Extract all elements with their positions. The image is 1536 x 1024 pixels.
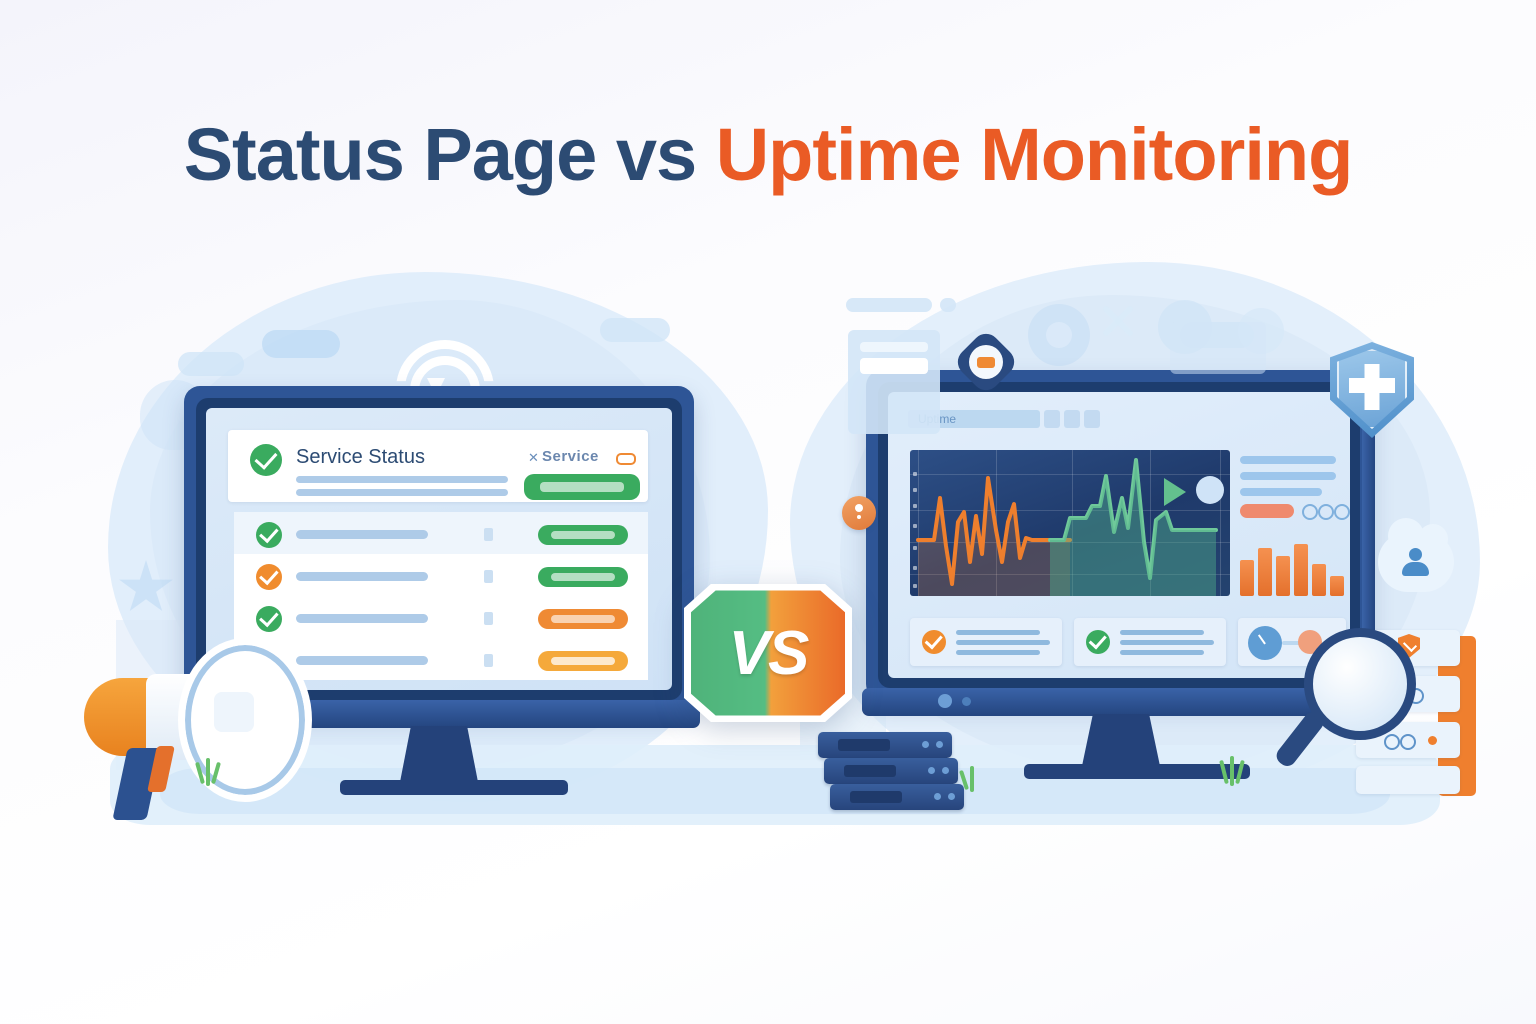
mini-bar [1330, 576, 1344, 596]
server-indicator [948, 793, 955, 800]
row-status-badge[interactable] [538, 651, 628, 671]
mini-bar [1294, 544, 1308, 596]
user-head [1409, 548, 1422, 561]
row-skeleton-line [296, 530, 428, 539]
server-unit [824, 758, 958, 784]
card-check-icon [1086, 630, 1110, 654]
server-unit [830, 784, 964, 810]
row-status-badge[interactable] [538, 567, 628, 587]
grass-decoration [1230, 756, 1234, 786]
title-part-orange: Uptime Monitoring [716, 113, 1353, 196]
play-triangle-icon[interactable] [1164, 478, 1186, 506]
row-status-badge[interactable] [538, 525, 628, 545]
row-uptime-value [484, 570, 493, 583]
server-indicator [942, 767, 949, 774]
gear-badge-center [977, 357, 995, 368]
badge-label [540, 482, 624, 492]
row-skeleton-line [296, 572, 428, 581]
document-line [860, 342, 928, 352]
overall-status-badge[interactable] [524, 474, 640, 500]
row-skeleton-line [296, 614, 428, 623]
document-card [1170, 322, 1266, 374]
megaphone-inner [214, 692, 254, 732]
vs-badge-label: VS [684, 578, 852, 728]
grass-decoration [970, 766, 974, 792]
server-slot [838, 739, 890, 751]
mini-bar [1276, 556, 1290, 596]
monitor-power-button[interactable] [938, 694, 952, 708]
status-indicator-dot [1196, 476, 1224, 504]
server-rack-panel [1356, 766, 1460, 794]
header-skeleton-line [296, 476, 508, 483]
badge-label [551, 531, 616, 539]
card-skeleton-line [956, 650, 1040, 655]
magnifier-lens [1304, 628, 1416, 740]
server-indicator [922, 741, 929, 748]
row-check-icon [256, 564, 282, 590]
gauge-icon [1248, 626, 1282, 660]
monitor-indicator [962, 697, 971, 706]
cloud-decoration [178, 352, 244, 376]
status-page-heading: Service Status [296, 446, 425, 469]
document-dot [940, 298, 956, 312]
user-icon [1400, 548, 1430, 578]
chart-series-svg [910, 450, 1230, 596]
panel-alert-pill[interactable] [1240, 504, 1294, 518]
card-skeleton-line [1120, 650, 1204, 655]
brand-x-icon: ✕ [528, 450, 539, 466]
card-skeleton-line [1120, 640, 1214, 645]
megaphone-icon [60, 630, 330, 820]
title-part-navy: Status Page vs [184, 113, 716, 196]
badge-label [551, 573, 616, 581]
server-slot [850, 791, 902, 803]
page-title: Status Page vs Uptime Monitoring [0, 118, 1536, 192]
panel-ring-icon [1318, 504, 1334, 520]
panel-skeleton-line [1240, 488, 1322, 496]
row-status-badge[interactable] [538, 609, 628, 629]
card-skeleton-line [956, 640, 1050, 645]
mini-bar [1240, 560, 1254, 596]
brand-accent-dot [616, 453, 636, 465]
illustration-canvas: Status Page vs Uptime Monitoring Service… [0, 0, 1536, 1024]
mini-bar [1312, 564, 1326, 596]
badge-label [551, 657, 616, 665]
server-indicator [936, 741, 943, 748]
gear-background-icon-center [1046, 322, 1072, 348]
monitor-base [1024, 764, 1250, 779]
row-uptime-value [484, 654, 493, 667]
rack-status-dot [1428, 736, 1437, 745]
shield-health-icon [1330, 342, 1414, 438]
card-check-icon [922, 630, 946, 654]
mini-bar [1258, 548, 1272, 596]
panel-skeleton-line [1240, 456, 1336, 464]
monitor-neck [1082, 714, 1160, 766]
cross-icon-horizontal [1349, 378, 1395, 393]
row-uptime-value [484, 528, 493, 541]
document-card [846, 298, 932, 312]
card-skeleton-line [1120, 630, 1204, 635]
server-indicator [934, 793, 941, 800]
cloud-decoration [600, 318, 670, 342]
server-slot [844, 765, 896, 777]
monitor-base [340, 780, 568, 795]
grass-decoration [206, 758, 210, 786]
status-page-brand: Service [542, 448, 599, 465]
toolbar-segment [1084, 410, 1100, 428]
toolbar-segment [1044, 410, 1060, 428]
row-check-icon [256, 606, 282, 632]
vs-badge: VS [684, 578, 852, 728]
badge-label [551, 615, 616, 623]
panel-skeleton-line [1240, 472, 1336, 480]
card-skeleton-line [956, 630, 1040, 635]
panel-ring-icon [1302, 504, 1318, 520]
server-indicator [928, 767, 935, 774]
row-check-icon [256, 522, 282, 548]
toolbar-segment [1064, 410, 1080, 428]
header-check-icon [250, 444, 282, 476]
panel-ring-icon [1334, 504, 1350, 520]
gear-badge-icon [962, 338, 1010, 386]
magnifier-icon [1290, 620, 1420, 770]
document-line [860, 358, 928, 374]
row-uptime-value [484, 612, 493, 625]
cloud-decoration [262, 330, 340, 358]
monitor-neck [400, 726, 478, 782]
response-time-chart [910, 450, 1230, 596]
server-unit [818, 732, 952, 758]
lock-badge-icon [842, 496, 876, 530]
user-body [1402, 562, 1429, 576]
uptime-dashboard-screen: Uptime [888, 392, 1350, 678]
header-skeleton-line [296, 489, 508, 496]
